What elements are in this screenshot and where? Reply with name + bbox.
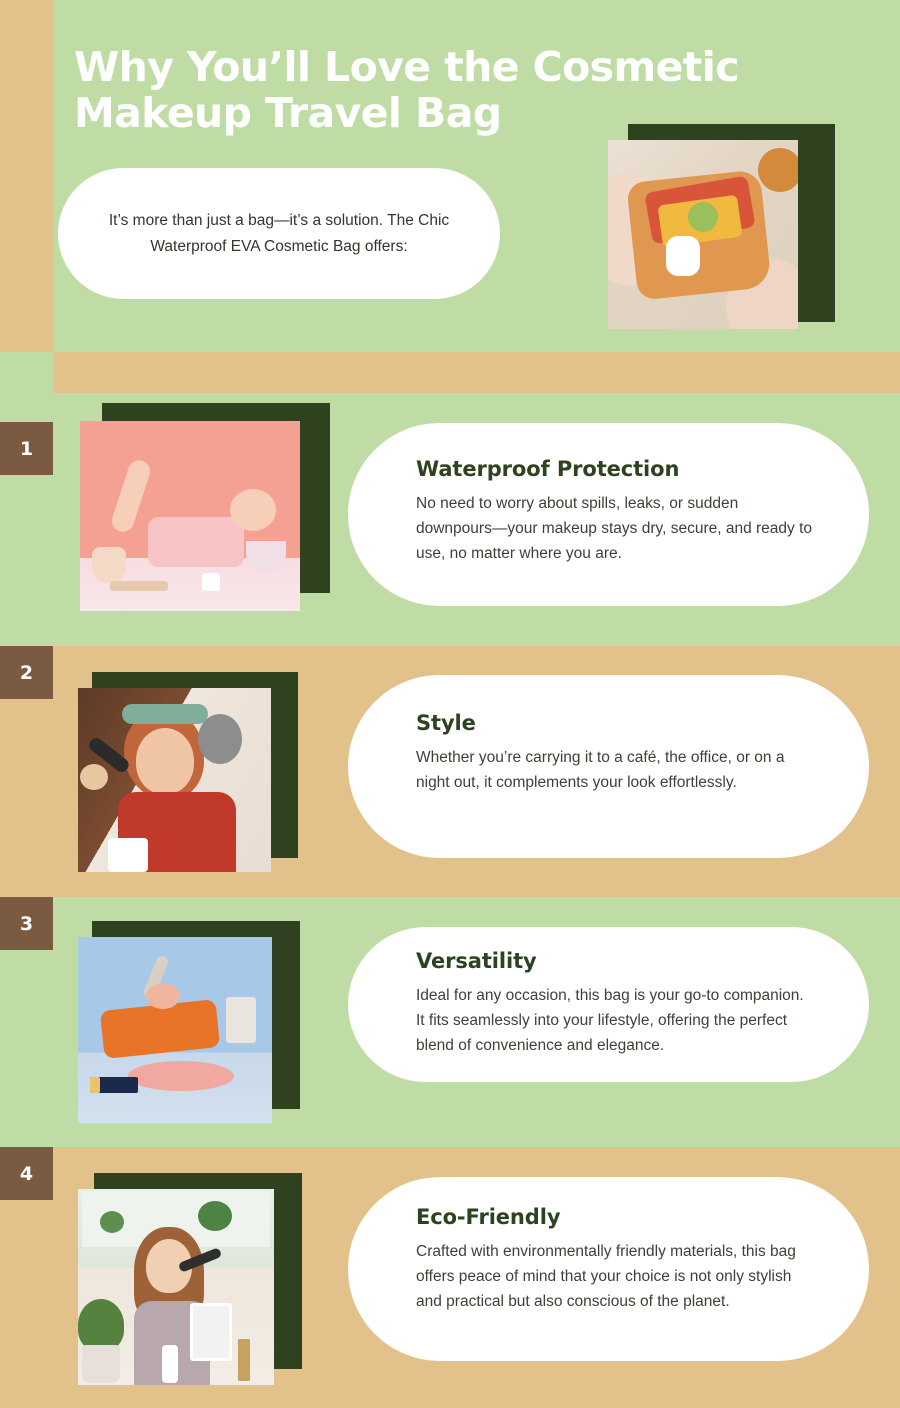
header-section: Why You’ll Love the Cosmetic Makeup Trav… <box>0 0 900 352</box>
section-4-card: Eco-Friendly Crafted with environmentall… <box>348 1177 869 1361</box>
section-1-photo-scene <box>80 421 300 611</box>
header-left-accent-bar <box>0 0 53 352</box>
hero-photo-image <box>608 140 798 329</box>
section-3-number: 3 <box>20 913 33 935</box>
section-3-body: Ideal for any occasion, this bag is your… <box>416 983 813 1058</box>
section-3-photo <box>78 921 300 1123</box>
small-cube-shape <box>202 573 220 591</box>
section-4-number-badge: 4 <box>0 1147 53 1200</box>
face-shape <box>136 728 194 794</box>
section-2-photo <box>78 672 298 872</box>
feature-section-4: 4 Eco-Friendly Crafted with envi <box>0 1147 900 1408</box>
section-2-body: Whether you’re carrying it to a café, th… <box>416 745 813 795</box>
section-3-card: Versatility Ideal for any occasion, this… <box>348 927 869 1082</box>
mirror-shape <box>190 1303 232 1361</box>
section-2-number-badge: 2 <box>0 646 53 699</box>
lipstick-gold-tip <box>90 1077 100 1093</box>
section-1-card: Waterproof Protection No need to worry a… <box>348 423 869 606</box>
page-title: Why You’ll Love the Cosmetic Makeup Trav… <box>74 44 834 136</box>
plant-foreground <box>78 1299 124 1351</box>
mirror-shape <box>198 714 242 764</box>
pink-pedestal-shape <box>128 1061 234 1091</box>
headband-shape <box>122 704 208 724</box>
section-3-title: Versatility <box>416 949 813 973</box>
bag-contents-white <box>666 236 700 276</box>
feature-section-2: 2 Style Whether you’re carrying it to a … <box>0 646 900 897</box>
plant-window-left <box>100 1211 124 1233</box>
section-4-number: 4 <box>20 1163 33 1185</box>
section-1-body: No need to worry about spills, leaks, or… <box>416 491 813 566</box>
plant-window-right <box>198 1201 232 1231</box>
divider-stripe-tan <box>53 352 900 393</box>
palette-shape <box>110 581 168 591</box>
section-1-photo <box>80 403 330 611</box>
intro-bubble: It’s more than just a bag—it’s a solutio… <box>58 168 500 299</box>
hero-photo <box>608 124 835 329</box>
section-2-card: Style Whether you’re carrying it to a ca… <box>348 675 869 858</box>
section-2-title: Style <box>416 711 813 735</box>
bag-contents-green <box>688 202 718 232</box>
section-4-body: Crafted with environmentally friendly ma… <box>416 1239 813 1314</box>
glass-bowl-shape <box>246 541 286 573</box>
section-4-photo-image <box>78 1189 274 1385</box>
brush-bristles-shape <box>80 764 108 790</box>
section-4-title: Eco-Friendly <box>416 1205 813 1229</box>
brush-head-shape <box>146 983 180 1009</box>
section-2-photo-image <box>78 688 271 872</box>
hand-right-shape <box>230 489 276 531</box>
intro-text: It’s more than just a bag—it’s a solutio… <box>91 208 467 260</box>
amber-jar-shape <box>758 148 798 192</box>
feature-section-3: 3 Versatility Ideal for any occasion, th… <box>0 897 900 1147</box>
section-3-photo-image <box>78 937 272 1123</box>
section-4-photo-scene <box>78 1189 274 1385</box>
perfume-box-shape <box>226 997 256 1043</box>
section-1-photo-image <box>80 421 300 611</box>
divider-stripe <box>0 352 900 393</box>
section-1-title: Waterproof Protection <box>416 457 813 481</box>
plant-pot-shape <box>82 1345 120 1383</box>
feature-section-1: 1 Waterproof Protection No need to worry… <box>0 393 900 646</box>
section-4-photo <box>78 1173 302 1385</box>
hero-photo-scene <box>608 140 798 329</box>
brush-holder-shape <box>108 838 148 872</box>
arm-left-shape <box>109 457 153 534</box>
perfume-bottle-shape <box>92 547 126 583</box>
pink-bag-shape <box>148 517 244 567</box>
section-1-number: 1 <box>20 438 33 460</box>
section-3-number-badge: 3 <box>0 897 53 950</box>
section-2-photo-scene <box>78 688 271 872</box>
bottle-shape <box>162 1345 178 1383</box>
section-1-number-badge: 1 <box>0 422 53 475</box>
section-3-photo-scene <box>78 937 272 1123</box>
section-2-number: 2 <box>20 662 33 684</box>
gold-tube-shape <box>238 1339 250 1381</box>
